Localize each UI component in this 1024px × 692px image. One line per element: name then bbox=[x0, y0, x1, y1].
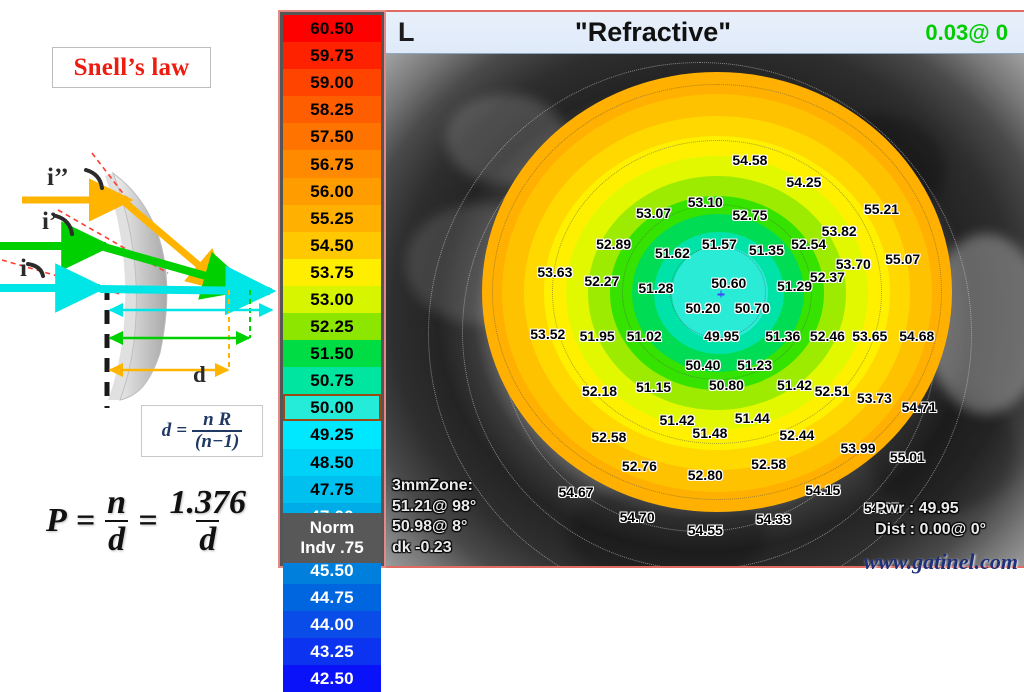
power-value-label: 50.80 bbox=[709, 377, 744, 393]
power-value-label: 53.10 bbox=[688, 194, 723, 210]
map-header: L "Refractive" 0.03@ 0 bbox=[386, 12, 1024, 54]
power-value-label: 53.82 bbox=[822, 223, 857, 239]
power-value-label: 52.80 bbox=[688, 467, 723, 483]
power-value-label: 52.27 bbox=[584, 273, 619, 289]
zone-line-1: 3mmZone: bbox=[392, 476, 476, 496]
power-value-label: 51.42 bbox=[660, 412, 695, 428]
power-value-label: 51.48 bbox=[692, 425, 727, 441]
power-value-label: 50.70 bbox=[735, 300, 770, 316]
scale-row-label: 44.00 bbox=[310, 616, 354, 633]
power-value-label: 52.58 bbox=[591, 429, 626, 445]
formula-d-numerator: n R bbox=[200, 410, 234, 430]
formula-p-denominator-2: d bbox=[196, 520, 219, 557]
scale-row-56-00[interactable]: 56.00 bbox=[283, 178, 381, 205]
scale-row-label: 56.00 bbox=[310, 183, 354, 200]
scale-row-label: 59.00 bbox=[310, 74, 354, 91]
snell-law-title-box: Snell’s law bbox=[52, 47, 211, 88]
power-value-label: 52.58 bbox=[751, 456, 786, 472]
power-value-label: 53.07 bbox=[636, 205, 671, 221]
scale-row-54-50[interactable]: 54.50 bbox=[283, 232, 381, 259]
scale-row-label: 48.50 bbox=[310, 454, 354, 471]
dist-row: Dist : 0.00@ 0° bbox=[875, 520, 986, 540]
scale-row-49-25[interactable]: 49.25 bbox=[283, 421, 381, 448]
formula-p-fraction-1: n d bbox=[104, 485, 129, 558]
topography-color-map[interactable] bbox=[482, 72, 952, 512]
power-value-label: 52.54 bbox=[791, 236, 826, 252]
scale-norm-line2: Indv .75 bbox=[300, 538, 363, 558]
topography-map-panel[interactable]: L "Refractive" 0.03@ 0 bbox=[386, 10, 1024, 568]
formula-d-denominator: (n−1) bbox=[192, 430, 242, 452]
formula-d-equals: = bbox=[176, 420, 187, 442]
scale-row-44-75[interactable]: 44.75 bbox=[283, 584, 381, 611]
formula-d-lhs: d bbox=[162, 420, 172, 442]
scale-row-label: 59.75 bbox=[310, 47, 354, 64]
angle-label-i: i bbox=[20, 255, 27, 283]
scale-row-51-50[interactable]: 51.50 bbox=[283, 340, 381, 367]
power-value-label: 49.95 bbox=[704, 328, 739, 344]
power-value-label: 52.75 bbox=[732, 207, 767, 223]
power-value-label: 50.20 bbox=[685, 300, 720, 316]
color-scale-panel[interactable]: 60.5059.7559.0058.2557.5056.7556.0055.25… bbox=[278, 10, 386, 568]
formula-p-lhs: P bbox=[46, 502, 67, 540]
formula-p-numerator-2: 1.376 bbox=[166, 485, 249, 520]
power-value-label: 53.99 bbox=[840, 440, 875, 456]
power-value-label: 51.02 bbox=[627, 328, 662, 344]
power-value-label: 51.36 bbox=[765, 328, 800, 344]
scale-row-label: 47.75 bbox=[310, 481, 354, 498]
scale-row-label: 58.25 bbox=[310, 101, 354, 118]
scale-row-55-25[interactable]: 55.25 bbox=[283, 205, 381, 232]
scale-row-57-50[interactable]: 57.50 bbox=[283, 123, 381, 150]
map-title: "Refractive" bbox=[488, 17, 818, 48]
scale-row-58-25[interactable]: 58.25 bbox=[283, 96, 381, 123]
power-value-label: 54.68 bbox=[899, 328, 934, 344]
formula-p-denominator-1: d bbox=[105, 520, 128, 557]
scale-row-label: 60.50 bbox=[310, 20, 354, 37]
scale-row-label: 57.50 bbox=[310, 128, 354, 145]
scale-row-56-75[interactable]: 56.75 bbox=[283, 150, 381, 177]
pwr-label: Pwr : bbox=[875, 500, 914, 517]
scale-row-52-25[interactable]: 52.25 bbox=[283, 313, 381, 340]
formula-d-box: d = n R (n−1) bbox=[141, 405, 263, 457]
formula-p-fraction-2: 1.376 d bbox=[166, 485, 249, 558]
dist-label: Dist : bbox=[875, 521, 915, 538]
power-value-label: 55.01 bbox=[890, 449, 925, 465]
power-value-label: 53.73 bbox=[857, 390, 892, 406]
power-value-label: 51.29 bbox=[777, 278, 812, 294]
power-value-label: 54.58 bbox=[732, 152, 767, 168]
scale-row-59-75[interactable]: 59.75 bbox=[283, 42, 381, 69]
astigmatism-readout: 0.03@ 0 bbox=[818, 20, 1012, 46]
scale-row-47-75[interactable]: 47.75 bbox=[283, 476, 381, 503]
power-value-label: 54.71 bbox=[902, 399, 937, 415]
scale-row-50-75[interactable]: 50.75 bbox=[283, 367, 381, 394]
scale-row-label: 43.25 bbox=[310, 643, 354, 660]
power-value-label: 51.15 bbox=[636, 379, 671, 395]
power-value-label: 52.89 bbox=[596, 236, 631, 252]
scale-row-53-00[interactable]: 53.00 bbox=[283, 286, 381, 313]
power-value-label: 51.44 bbox=[735, 410, 770, 426]
pwr-value: 49.95 bbox=[919, 500, 959, 517]
eye-label: L bbox=[398, 17, 488, 48]
power-value-label: 54.25 bbox=[786, 174, 821, 190]
angle-label-i-prime: i’ bbox=[42, 208, 57, 236]
scale-row-44-00[interactable]: 44.00 bbox=[283, 611, 381, 638]
power-value-label: 54.33 bbox=[756, 511, 791, 527]
zone-readout-overlay: 3mmZone: 51.21@ 98° 50.98@ 8° dk -0.23 bbox=[392, 476, 476, 558]
scale-row-label: 50.75 bbox=[310, 372, 354, 389]
color-scale-rows[interactable]: 60.5059.7559.0058.2557.5056.7556.0055.25… bbox=[283, 15, 381, 561]
page-title: Snell’s law bbox=[74, 54, 190, 82]
power-value-label: 51.23 bbox=[737, 357, 772, 373]
scale-row-label: 42.50 bbox=[310, 670, 354, 687]
power-readout-overlay: Pwr : 49.95 Dist : 0.00@ 0° bbox=[875, 499, 986, 540]
scale-row-50-00[interactable]: 50.00 bbox=[283, 394, 381, 421]
distance-label-d: d bbox=[193, 362, 206, 388]
scale-row-label: 53.00 bbox=[310, 291, 354, 308]
power-value-label: 53.63 bbox=[537, 264, 572, 280]
formula-p: P = n d = 1.376 d bbox=[46, 485, 249, 558]
power-value-label: 54.55 bbox=[688, 522, 723, 538]
scale-row-label: 50.00 bbox=[310, 399, 354, 416]
refraction-diagram bbox=[0, 148, 278, 408]
power-value-label: 52.37 bbox=[810, 269, 845, 285]
watermark: www.gatinel.com bbox=[864, 549, 1018, 575]
power-value-label: 51.35 bbox=[749, 242, 784, 258]
power-value-label: 55.21 bbox=[864, 201, 899, 217]
formula-p-equals-2: = bbox=[138, 502, 157, 540]
angle-label-i-double-prime: i’’ bbox=[47, 164, 69, 192]
scale-row-label: 53.75 bbox=[310, 264, 354, 281]
power-value-label: 52.18 bbox=[582, 383, 617, 399]
formula-p-numerator-1: n bbox=[104, 485, 129, 520]
scale-row-42-50[interactable]: 42.50 bbox=[283, 665, 381, 692]
power-value-label: 51.95 bbox=[580, 328, 615, 344]
power-value-label: 52.46 bbox=[810, 328, 845, 344]
formula-p-equals-1: = bbox=[76, 502, 95, 540]
power-value-label: 53.52 bbox=[530, 326, 565, 342]
power-value-label: 55.07 bbox=[885, 251, 920, 267]
power-value-label: 51.28 bbox=[638, 280, 673, 296]
zone-line-2: 51.21@ 98° bbox=[392, 497, 476, 517]
zone-line-4: dk -0.23 bbox=[392, 538, 476, 558]
scale-row-label: 56.75 bbox=[310, 156, 354, 173]
scale-row-label: 52.25 bbox=[310, 318, 354, 335]
dist-value: 0.00@ 0° bbox=[920, 521, 986, 538]
power-value-label: 52.44 bbox=[779, 427, 814, 443]
power-value-label: 50.40 bbox=[685, 357, 720, 373]
power-value-label: 54.15 bbox=[805, 482, 840, 498]
scale-row-60-50[interactable]: 60.50 bbox=[283, 15, 381, 42]
scale-row-43-25[interactable]: 43.25 bbox=[283, 638, 381, 665]
scale-row-label: 49.25 bbox=[310, 426, 354, 443]
formula-d: d = n R (n−1) bbox=[162, 410, 243, 452]
power-value-label: 54.67 bbox=[558, 484, 593, 500]
zone-line-3: 50.98@ 8° bbox=[392, 517, 476, 537]
scale-row-59-00[interactable]: 59.00 bbox=[283, 69, 381, 96]
power-value-label: 50.60 bbox=[711, 275, 746, 291]
scale-row-48-50[interactable]: 48.50 bbox=[283, 449, 381, 476]
power-value-label: 51.57 bbox=[702, 236, 737, 252]
snell-law-panel: Snell’s law bbox=[0, 0, 278, 576]
scale-row-53-75[interactable]: 53.75 bbox=[283, 259, 381, 286]
scale-row-label: 44.75 bbox=[310, 589, 354, 606]
scale-row-label: 45.50 bbox=[310, 562, 354, 579]
power-value-label: 51.62 bbox=[655, 245, 690, 261]
power-value-label: 52.76 bbox=[622, 458, 657, 474]
formula-d-fraction: n R (n−1) bbox=[192, 410, 242, 452]
scale-normalization-label: Norm Indv .75 bbox=[283, 513, 381, 563]
scale-row-label: 54.50 bbox=[310, 237, 354, 254]
power-value-label: 54.70 bbox=[620, 509, 655, 525]
scale-norm-line1: Norm bbox=[310, 518, 354, 538]
power-value-label: 53.65 bbox=[852, 328, 887, 344]
apex-marker bbox=[717, 291, 724, 298]
pwr-row: Pwr : 49.95 bbox=[875, 499, 986, 519]
power-value-label: 51.42 bbox=[777, 377, 812, 393]
scale-row-label: 51.50 bbox=[310, 345, 354, 362]
scale-row-label: 55.25 bbox=[310, 210, 354, 227]
power-value-label: 52.51 bbox=[815, 383, 850, 399]
